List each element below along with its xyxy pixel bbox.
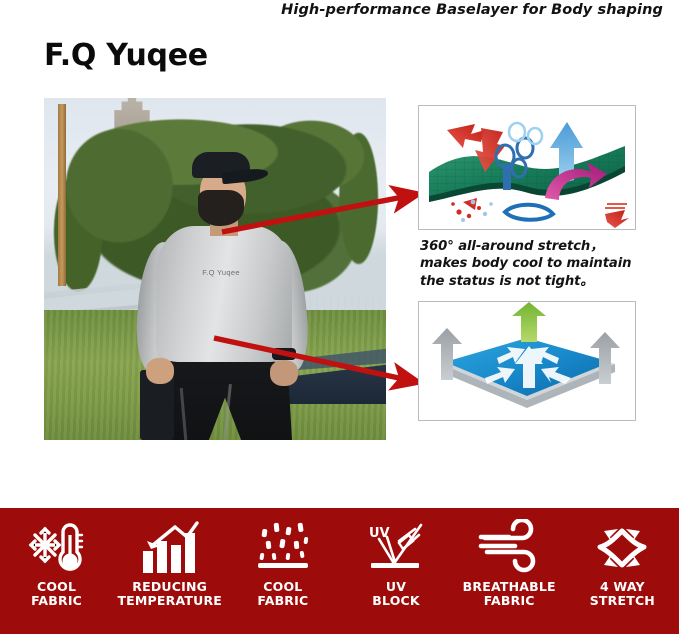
feature-label: 4 WAY STRETCH <box>590 580 655 608</box>
feature-reducing-temperature: REDUCING TEMPERATURE <box>117 516 223 608</box>
wristwatch <box>272 348 296 360</box>
wind-flow-icon <box>475 516 543 578</box>
brand-name: F.Q Yuqee <box>44 38 208 73</box>
model-figure: F.Q Yuqee <box>130 152 310 440</box>
feature-label: BREATHABLE FABRIC <box>463 580 556 608</box>
product-photo: F.Q Yuqee <box>44 98 386 440</box>
stretch-mesh-diagram <box>418 105 636 230</box>
shirt-chest-logo: F.Q Yuqee <box>178 268 264 277</box>
feature-cool-fabric-1: COOL FABRIC <box>4 516 110 608</box>
wooden-pole <box>58 104 66 286</box>
page-tagline: High-performance Baselayer for Body shap… <box>281 2 663 18</box>
model-left-hand <box>146 358 174 384</box>
feature-uv-block: UV UV BLOCK <box>343 516 449 608</box>
feature-breathable-fabric: BREATHABLE FABRIC <box>456 516 562 608</box>
model-right-hand <box>270 360 298 386</box>
stretch-caption: 360° all-around stretch， makes body cool… <box>420 238 664 290</box>
feature-cool-fabric-2: COOL FABRIC <box>230 516 336 608</box>
caption-line-3: the status is not tight。 <box>420 273 664 290</box>
product-marketing-page: High-performance Baselayer for Body shap… <box>0 0 679 634</box>
caption-line-2: makes body cool to maintain <box>420 255 664 272</box>
feature-label: UV BLOCK <box>372 580 420 608</box>
feature-label: COOL FABRIC <box>31 580 82 608</box>
feature-banner: COOL FABRIC REDUCING TEMPERATURE <box>0 508 679 634</box>
feature-4-way-stretch: 4 WAY STRETCH <box>569 516 675 608</box>
snowflake-thermometer-icon <box>26 516 88 578</box>
four-way-stretch-icon <box>588 516 656 578</box>
feature-label: REDUCING TEMPERATURE <box>117 580 222 608</box>
model-beard <box>198 190 244 226</box>
water-droplets-icon <box>252 516 314 578</box>
feature-label: COOL FABRIC <box>257 580 308 608</box>
bar-chart-down-arrow-icon <box>139 516 201 578</box>
caption-line-1: 360° all-around stretch， <box>420 238 664 255</box>
gray-compression-shirt <box>156 226 292 362</box>
breathability-diagram <box>418 301 636 421</box>
uv-block-icon: UV <box>365 516 427 578</box>
green-up-arrow <box>512 302 546 342</box>
